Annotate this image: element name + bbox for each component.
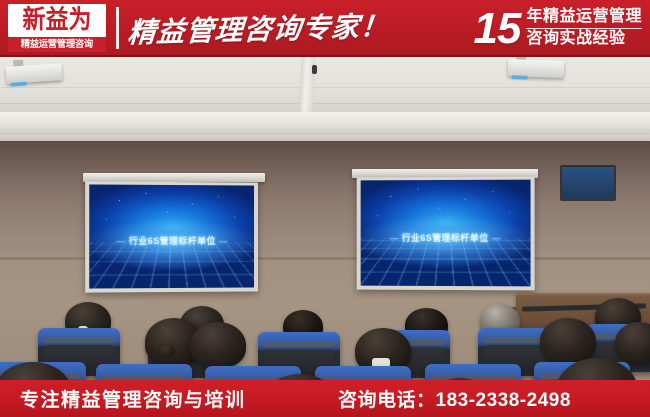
company-logo: 新益为 精益运营管理咨询 bbox=[8, 4, 106, 52]
bottom-banner: 专注精益管理咨询与培训 咨询电话：183-2338-2498 bbox=[0, 380, 650, 417]
logo-name-text: 新益为 bbox=[23, 8, 92, 34]
ceiling-seam bbox=[0, 87, 650, 88]
contact-phone: 咨询电话：183-2338-2498 bbox=[338, 385, 571, 412]
promo-image: 新益为 精益运营管理咨询 精益管理咨询专家！ 15 年精益运营管理 咨询实战经验 bbox=[0, 0, 650, 417]
audience-area bbox=[0, 232, 650, 380]
banner-divider bbox=[116, 7, 119, 49]
bottom-tagline: 专注精益管理咨询与培训 bbox=[20, 385, 246, 412]
logo-subtitle-text: 精益运营管理咨询 bbox=[21, 40, 93, 50]
years-text-block: 年精益运营管理 咨询实战经验 bbox=[526, 9, 642, 48]
conference-hall-photo: — 行业6S管理标杆单位 — — 行业6S管理标杆单位 — bbox=[0, 57, 650, 380]
projector-icon bbox=[508, 59, 565, 78]
wall-monitor bbox=[560, 165, 616, 201]
experience-badge: 15 年精益运营管理 咨询实战经验 bbox=[474, 2, 642, 55]
logo-name-box: 新益为 bbox=[8, 4, 106, 37]
years-number: 15 bbox=[474, 7, 521, 51]
audience-head bbox=[540, 318, 596, 364]
audience-head bbox=[615, 322, 650, 364]
top-banner: 新益为 精益运营管理咨询 精益管理咨询专家！ 15 年精益运营管理 咨询实战经验 bbox=[0, 0, 650, 57]
years-line-1: 年精益运营管理 bbox=[526, 9, 642, 26]
seat bbox=[425, 364, 521, 380]
banner-slogan: 精益管理咨询专家！ bbox=[126, 3, 391, 54]
ceiling-camera-icon bbox=[312, 65, 317, 74]
years-rule bbox=[526, 28, 642, 29]
seat bbox=[315, 366, 411, 380]
hair-bun bbox=[158, 344, 175, 358]
logo-subtitle-box: 精益运营管理咨询 bbox=[8, 37, 106, 52]
ceiling-seam bbox=[0, 103, 650, 104]
seat bbox=[96, 364, 192, 380]
years-line-2: 咨询实战经验 bbox=[526, 31, 642, 48]
audience-head bbox=[190, 322, 246, 368]
